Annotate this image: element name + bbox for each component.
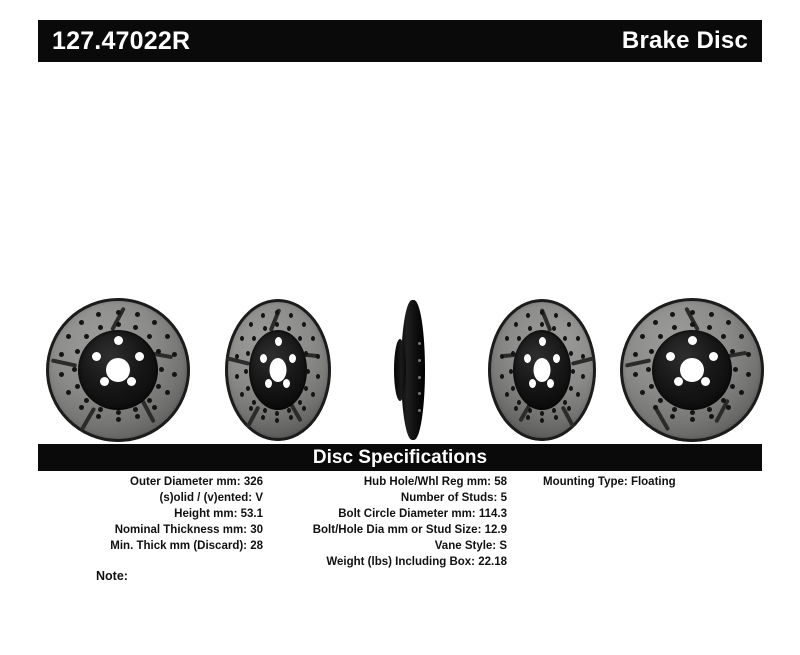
drill-hole (172, 352, 177, 357)
spec-label: Bolt/Hole Dia mm or Stud Size: (313, 524, 485, 536)
drill-hole (289, 313, 293, 318)
drill-hole (567, 406, 571, 411)
drill-hole (298, 400, 302, 405)
disc-center-bore (106, 358, 130, 382)
spec-row: Mounting Type: Floating (543, 474, 762, 490)
drill-hole (84, 334, 89, 339)
spec-label: Hub Hole/Whl Reg mm: (364, 476, 494, 488)
drill-hole (563, 400, 567, 405)
drill-hole (159, 367, 164, 372)
spec-columns: Outer Diameter mm: 326 (s)olid / (v)ente… (38, 474, 762, 584)
spec-row: (s)olid / (v)ented: V (38, 490, 263, 506)
rotor-gallery (38, 296, 762, 444)
drill-hole (730, 349, 735, 354)
spec-row: Outer Diameter mm: 326 (38, 474, 263, 490)
lug-hole (524, 354, 531, 363)
disc-outer-ring (46, 298, 190, 442)
drill-hole (658, 398, 663, 403)
drill-hole (746, 372, 751, 377)
drill-hole (739, 334, 744, 339)
drill-hole (79, 405, 84, 410)
spec-value: 28 (250, 540, 263, 552)
drill-hole (540, 411, 544, 416)
note-label: Note: (96, 569, 128, 583)
drill-hole (707, 325, 712, 330)
drill-hole (287, 408, 291, 413)
drill-hole (552, 326, 556, 331)
drill-hole (304, 351, 308, 356)
lug-hole (289, 354, 296, 363)
spec-label: Vane Style: (435, 540, 500, 552)
drill-hole (96, 312, 101, 317)
drill-hole (640, 390, 645, 395)
drill-hole (75, 349, 80, 354)
drill-hole (528, 408, 532, 413)
drill-hole (690, 310, 695, 315)
part-number: 127.47022R (52, 29, 190, 54)
rotor-image (368, 296, 458, 444)
disc-hat-profile (394, 339, 406, 401)
spec-row: Hub Hole/Whl Reg mm: 58 (270, 474, 507, 490)
spec-label: Outer Diameter mm: (130, 476, 244, 488)
lug-hole (709, 352, 718, 361)
drill-hole (514, 322, 518, 327)
header-bar: 127.47022R Brake Disc (38, 20, 762, 62)
disc-center-bore (534, 358, 551, 382)
drill-hole (709, 312, 714, 317)
lug-hole (260, 354, 267, 363)
drill-hole (511, 351, 515, 356)
drill-hole (302, 406, 306, 411)
rotor-image (42, 296, 194, 444)
drill-hole (316, 354, 320, 359)
drill-hole (66, 334, 71, 339)
spec-row: Bolt Circle Diameter mm: 114.3 (270, 506, 507, 522)
drill-hole (721, 334, 726, 339)
drill-hole (670, 312, 675, 317)
lug-hole (135, 352, 144, 361)
lug-hole (674, 377, 683, 386)
spec-value: Floating (631, 476, 676, 488)
lug-hole (666, 352, 675, 361)
lug-hole (92, 352, 101, 361)
drill-hole (59, 352, 64, 357)
drill-hole (746, 352, 751, 357)
lug-hole (529, 379, 536, 388)
drill-hole (252, 400, 256, 405)
drill-hole (84, 398, 89, 403)
drill-hole (528, 326, 532, 331)
spec-row: Min. Thick mm (Discard): 28 (38, 538, 263, 554)
lug-hole (547, 379, 554, 388)
lug-hole (539, 337, 546, 346)
drill-hole (96, 414, 101, 419)
drill-hole (156, 384, 161, 389)
drill-hole (569, 386, 573, 391)
drill-hole (66, 390, 71, 395)
drill-hole (672, 325, 677, 330)
drill-hole (302, 322, 306, 327)
spec-label: Nominal Thickness mm: (115, 524, 250, 536)
drill-hole (554, 415, 558, 420)
drill-hole (571, 369, 575, 374)
drill-hole (98, 325, 103, 330)
rotor-view-front-face-left (42, 296, 194, 444)
spec-value: 53.1 (241, 508, 263, 520)
spec-value: 326 (244, 476, 263, 488)
drill-hole (316, 374, 320, 379)
spec-label: Mounting Type: (543, 476, 631, 488)
drill-hole (526, 415, 530, 420)
drill-hole (72, 367, 77, 372)
drill-hole (289, 415, 293, 420)
disc-center-bore (680, 358, 704, 382)
rotor-image (208, 296, 348, 444)
drill-hole (135, 312, 140, 317)
drill-hole (244, 369, 248, 374)
drill-hole (261, 415, 265, 420)
rotor-view-edge-profile (368, 296, 458, 444)
drill-hole (707, 407, 712, 412)
drill-hole (709, 414, 714, 419)
drill-hole (246, 386, 250, 391)
drill-hole (116, 417, 121, 422)
drill-hole (649, 384, 654, 389)
drill-hole (147, 334, 152, 339)
spec-row: Height mm: 53.1 (38, 506, 263, 522)
drill-hole (730, 384, 735, 389)
spec-section-header: Disc Specifications (38, 444, 762, 471)
drill-hole (133, 407, 138, 412)
spec-value: 114.3 (479, 508, 507, 520)
lug-hole (114, 336, 123, 345)
drill-hole (165, 334, 170, 339)
drill-hole (79, 320, 84, 325)
drill-hole (263, 326, 267, 331)
spec-value: V (255, 492, 263, 504)
drill-hole (298, 336, 302, 341)
vent-mark (418, 376, 421, 379)
drill-hole (275, 322, 279, 327)
drill-hole (540, 418, 544, 423)
drill-hole (581, 354, 585, 359)
spec-row: Weight (lbs) Including Box: 22.18 (270, 554, 507, 570)
drill-hole (116, 310, 121, 315)
drill-hole (165, 390, 170, 395)
drill-hole (576, 336, 580, 341)
lug-hole (100, 377, 109, 386)
drill-hole (633, 372, 638, 377)
drill-hole (526, 313, 530, 318)
drill-hole (275, 418, 279, 423)
drill-hole (240, 336, 244, 341)
rotor-view-angled-left (208, 296, 348, 444)
spec-label: Weight (lbs) Including Box: (326, 556, 478, 568)
spec-row: Vane Style: S (270, 538, 507, 554)
drill-hole (116, 322, 121, 327)
drill-hole (147, 398, 152, 403)
drill-hole (726, 405, 731, 410)
drill-hole (275, 310, 279, 315)
drill-hole (646, 367, 651, 372)
drill-hole (540, 310, 544, 315)
drill-hole (75, 384, 80, 389)
lug-hole (688, 336, 697, 345)
spec-value: 58 (494, 476, 507, 488)
drill-hole (653, 405, 658, 410)
spec-row: Nominal Thickness mm: 30 (38, 522, 263, 538)
drill-hole (249, 322, 253, 327)
drill-hole (569, 351, 573, 356)
drill-hole (739, 390, 744, 395)
drill-hole (304, 386, 308, 391)
drill-hole (653, 320, 658, 325)
drill-hole (563, 336, 567, 341)
disc-edge-profile (401, 300, 425, 440)
drill-hole (567, 322, 571, 327)
drill-hole (552, 408, 556, 413)
disc-outer-ring (620, 298, 764, 442)
spec-label: Number of Studs: (401, 492, 501, 504)
spec-section-title: Disc Specifications (313, 448, 487, 467)
lug-hole (265, 379, 272, 388)
drill-hole (670, 414, 675, 419)
lug-hole (275, 337, 282, 346)
drill-hole (500, 374, 504, 379)
note-area: Note: (38, 569, 762, 599)
drill-hole (235, 374, 239, 379)
drill-hole (311, 392, 315, 397)
drill-hole (275, 411, 279, 416)
drill-hole (152, 405, 157, 410)
lug-hole (127, 377, 136, 386)
drill-hole (246, 351, 250, 356)
drill-hole (235, 354, 239, 359)
spec-column-middle: Hub Hole/Whl Reg mm: 58 Number of Studs:… (270, 474, 507, 570)
drill-hole (721, 398, 726, 403)
drill-hole (135, 414, 140, 419)
drill-hole (263, 408, 267, 413)
spec-value: 12.9 (485, 524, 507, 536)
drill-hole (98, 407, 103, 412)
drill-hole (658, 334, 663, 339)
drill-hole (306, 369, 310, 374)
spec-label: Height mm: (174, 508, 240, 520)
spec-column-left: Outer Diameter mm: 326 (s)olid / (v)ente… (38, 474, 263, 554)
rotor-view-front-face-right (618, 296, 766, 444)
drill-hole (156, 349, 161, 354)
drill-hole (690, 410, 695, 415)
drill-hole (59, 372, 64, 377)
drill-hole (172, 372, 177, 377)
drill-hole (240, 392, 244, 397)
rotor-image (470, 296, 614, 444)
drill-hole (505, 336, 509, 341)
vent-mark (418, 342, 421, 345)
drill-hole (116, 410, 121, 415)
drill-hole (690, 417, 695, 422)
drill-hole (311, 336, 315, 341)
rotor-view-angled-right (470, 296, 614, 444)
spec-row: Number of Studs: 5 (270, 490, 507, 506)
drill-hole (505, 392, 509, 397)
drill-hole (500, 354, 504, 359)
vent-mark (418, 359, 421, 362)
spec-value: 5 (501, 492, 507, 504)
drill-hole (509, 369, 513, 374)
drill-hole (649, 349, 654, 354)
drill-hole (690, 322, 695, 327)
drill-hole (252, 336, 256, 341)
spec-value: 30 (250, 524, 263, 536)
lug-hole (553, 354, 560, 363)
drill-hole (133, 325, 138, 330)
disc-outer-ring (488, 299, 596, 441)
drill-hole (640, 334, 645, 339)
lug-hole (701, 377, 710, 386)
drill-hole (633, 352, 638, 357)
drill-hole (554, 313, 558, 318)
spec-row: Bolt/Hole Dia mm or Stud Size: 12.9 (270, 522, 507, 538)
rotor-image (618, 296, 766, 444)
drill-hole (287, 326, 291, 331)
drill-hole (726, 320, 731, 325)
spec-label: Min. Thick mm (Discard): (110, 540, 250, 552)
spec-value: 22.18 (478, 556, 507, 568)
drill-hole (514, 406, 518, 411)
drill-hole (581, 374, 585, 379)
drill-hole (576, 392, 580, 397)
drill-hole (517, 336, 521, 341)
disc-center-bore (270, 358, 287, 382)
drill-hole (152, 320, 157, 325)
drill-hole (511, 386, 515, 391)
drill-hole (517, 400, 521, 405)
spec-label: (s)olid / (v)ented: (159, 492, 255, 504)
drill-hole (261, 313, 265, 318)
drill-hole (672, 407, 677, 412)
spec-value: S (499, 540, 507, 552)
product-spec-sheet: 127.47022R Brake Disc (0, 0, 800, 655)
spec-label: Bolt Circle Diameter mm: (338, 508, 479, 520)
drill-hole (540, 322, 544, 327)
drill-hole (249, 406, 253, 411)
spec-column-right: Mounting Type: Floating (543, 474, 762, 490)
lug-hole (283, 379, 290, 388)
product-type-label: Brake Disc (622, 29, 748, 53)
drill-hole (733, 367, 738, 372)
disc-outer-ring (225, 299, 331, 441)
